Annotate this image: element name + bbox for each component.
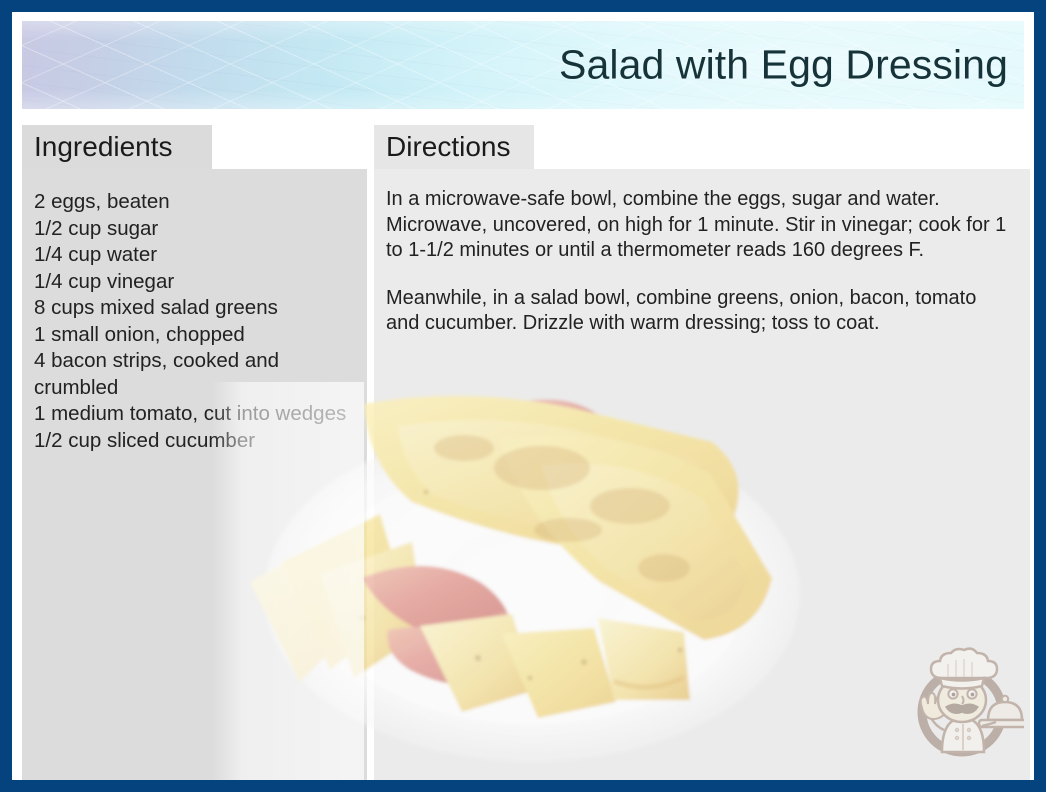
direction-paragraph: Meanwhile, in a salad bowl, combine gree… [386,286,1008,337]
ingredient-item: 1/2 cup sugar [34,216,353,243]
direction-paragraph: In a microwave-safe bowl, combine the eg… [386,187,1008,264]
recipe-slide: Salad with Egg Dressing Ingredients 2 eg… [0,0,1046,792]
ingredient-item: 1/4 cup water [34,242,353,269]
ingredients-panel-body: 2 eggs, beaten1/2 cup sugar1/4 cup water… [22,169,367,780]
ingredients-tab: Ingredients [22,125,212,169]
ingredient-list: 2 eggs, beaten1/2 cup sugar1/4 cup water… [34,189,353,454]
ingredient-item: 4 bacon strips, cooked and crumbled [34,348,353,401]
ingredient-item: 8 cups mixed salad greens [34,295,353,322]
ingredient-item: 1 small onion, chopped [34,322,353,349]
ingredients-tab-label: Ingredients [34,133,173,161]
ingredients-panel: Ingredients 2 eggs, beaten1/2 cup sugar1… [22,125,367,780]
page-title: Salad with Egg Dressing [559,43,1008,86]
ingredient-item: 2 eggs, beaten [34,189,353,216]
title-banner: Salad with Egg Dressing [22,21,1024,109]
directions-content: In a microwave-safe bowl, combine the eg… [374,169,1030,337]
ingredient-item: 1/4 cup vinegar [34,269,353,296]
slide-canvas: Salad with Egg Dressing Ingredients 2 eg… [12,12,1034,780]
chef-mascot-logo [900,642,1024,766]
ingredients-content: 2 eggs, beaten1/2 cup sugar1/4 cup water… [22,169,367,454]
ingredient-item: 1 medium tomato, cut into wedges [34,401,353,428]
directions-tab-label: Directions [386,133,510,161]
directions-tab: Directions [374,125,534,169]
ingredient-item: 1/2 cup sliced cucumber [34,428,353,455]
